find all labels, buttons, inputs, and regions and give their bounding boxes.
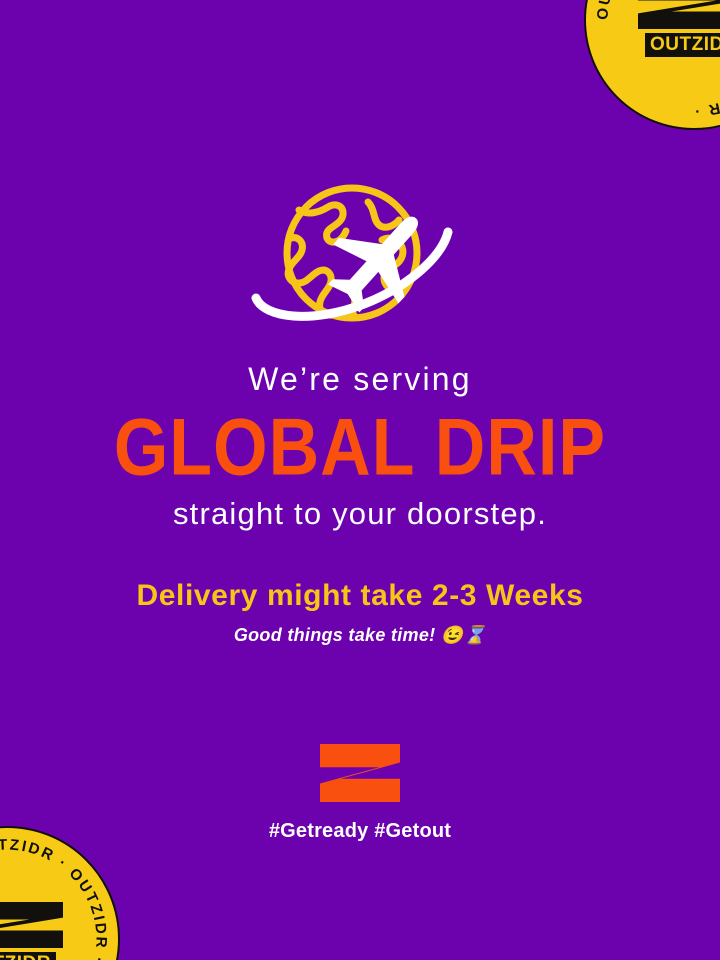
badge-wordmark-text: OUTZIDR bbox=[0, 953, 51, 960]
poster-copy-block: We’re serving GLOBAL DRIP straight to yo… bbox=[0, 362, 720, 646]
globe-with-airplane-icon bbox=[242, 176, 478, 342]
page-title: GLOBAL DRIP bbox=[0, 406, 720, 488]
badge-wordmark-top-right: OUTZIDR bbox=[645, 33, 720, 57]
badge-z-mark-icon bbox=[638, 0, 720, 29]
badge-wordmark-bottom-left: OUTZIDR bbox=[0, 952, 56, 960]
hashtags-text: #Getready #Getout bbox=[269, 820, 451, 843]
reassurance-text: Good things take time! 😉⌛ bbox=[0, 626, 720, 646]
eyebrow-text: We’re serving bbox=[0, 362, 720, 398]
footer-brand-block: #Getready #Getout bbox=[0, 744, 720, 843]
hero-globe-airplane-illustration bbox=[0, 176, 720, 342]
subhead-text: straight to your doorstep. bbox=[0, 497, 720, 531]
outzidr-z-logomark-icon bbox=[320, 744, 400, 802]
badge-z-mark-icon bbox=[0, 902, 63, 948]
brand-sticker-badge-bottom-left: OUTZIDR · OUTZIDR · OUTZIDR · OUTZIDR · … bbox=[0, 826, 120, 960]
badge-core-top-right: OUTZIDR bbox=[632, 0, 720, 57]
badge-core-bottom-left: OUTZIDR bbox=[0, 902, 69, 960]
promo-poster: OUTZIDR · OUTZIDR · OUTZIDR · OUTZIDR · … bbox=[0, 0, 720, 960]
brand-sticker-badge-top-right: OUTZIDR · OUTZIDR · OUTZIDR · OUTZIDR · … bbox=[584, 0, 720, 130]
delivery-note-text: Delivery might take 2-3 Weeks bbox=[0, 579, 720, 612]
badge-wordmark-text: OUTZIDR bbox=[650, 34, 720, 55]
